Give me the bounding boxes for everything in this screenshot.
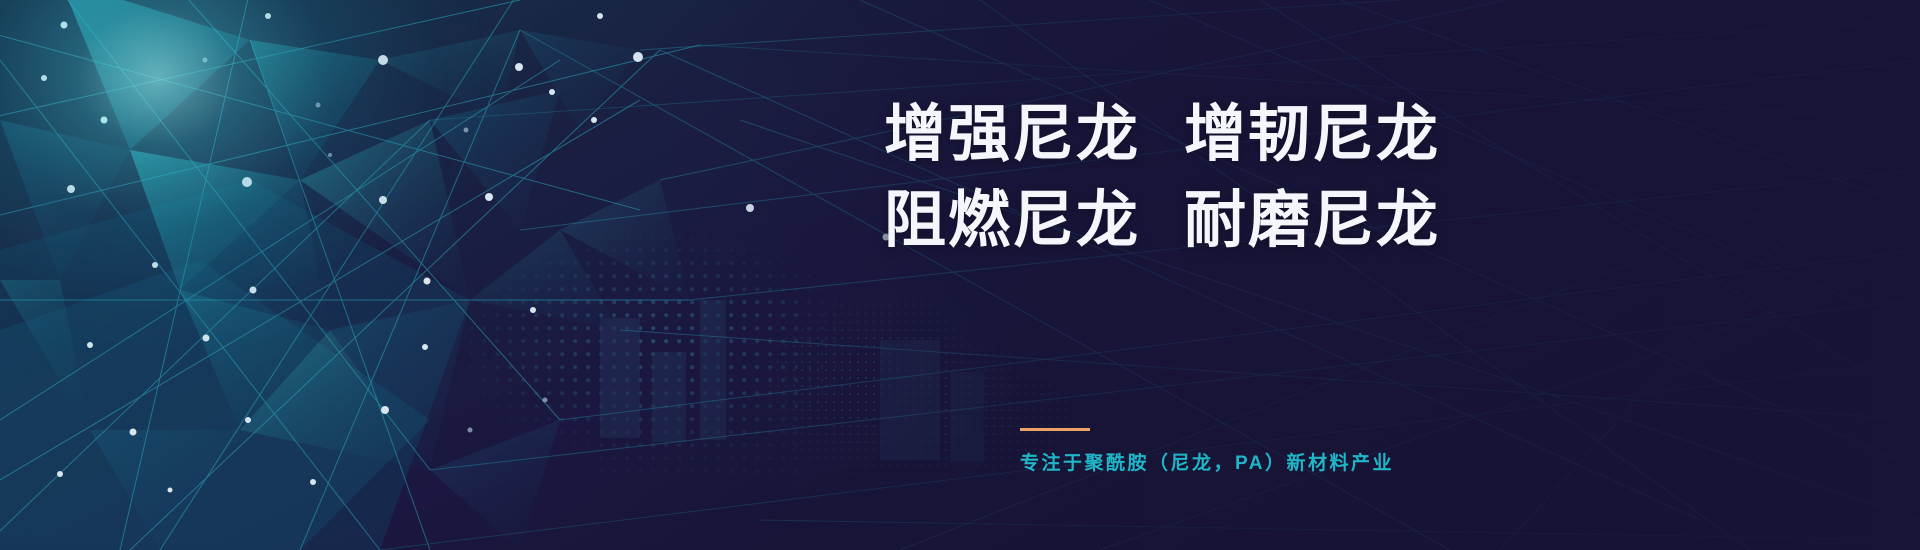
background-network-graphic	[0, 0, 1920, 550]
hero-banner: 增强尼龙增韧尼龙 阻燃尼龙耐磨尼龙 专注于聚酰胺（尼龙，PA）新材料产业	[0, 0, 1920, 550]
